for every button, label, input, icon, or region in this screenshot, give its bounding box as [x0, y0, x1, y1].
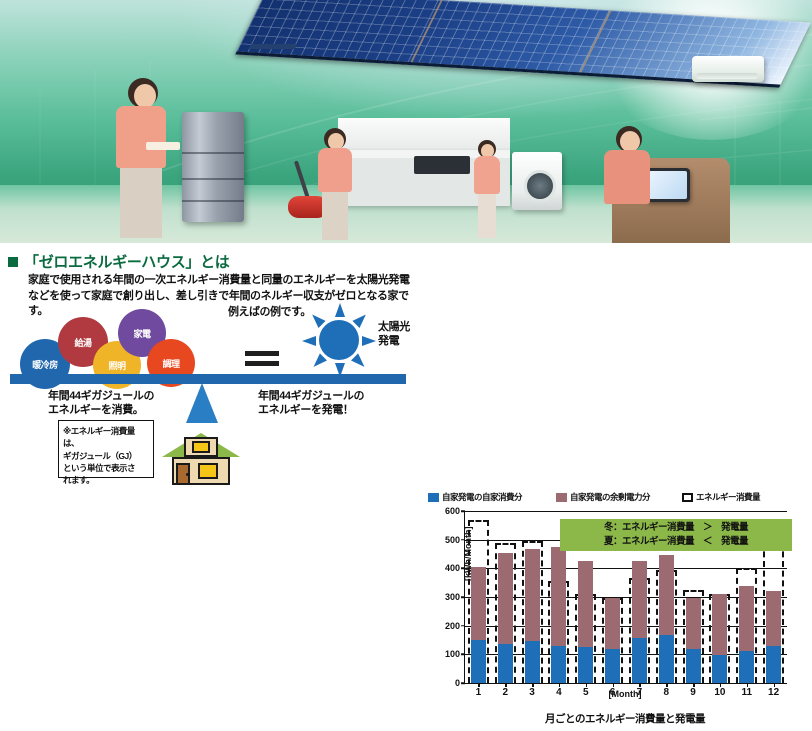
energy-use-bubbles: 暖冷房 給湯 照明 家電 調理 [20, 305, 230, 383]
refrigerator [182, 112, 244, 222]
y-tick-mark [461, 625, 465, 627]
table-row [578, 561, 593, 683]
table-row [498, 553, 513, 683]
person-with-tablet [596, 126, 666, 238]
table-row [766, 591, 781, 683]
bar-surplus [739, 586, 754, 651]
y-tick-label: 300 [445, 592, 460, 602]
chart-title: 月ごとのエネルギー消費量と発電量 [464, 711, 786, 726]
legend-item-consumption: エネルギー消費量 [682, 491, 760, 503]
y-tick-label: 200 [445, 621, 460, 631]
legend-item-surplus: 自家発電の余剰電力分 [556, 491, 650, 503]
bar-surplus [498, 553, 513, 644]
footnote-line2: ギガジュール（GJ） [63, 450, 150, 462]
bar-surplus [525, 549, 540, 642]
bubble-label: 家電 [133, 327, 150, 340]
y-tick-mark [461, 539, 465, 541]
solar-label-line1: 太陽光 [378, 321, 410, 335]
bar-self-consumption [766, 646, 781, 683]
example-text: 例えばの例です。 [228, 303, 311, 319]
y-tick-label: 600 [445, 506, 460, 516]
bar-surplus [605, 598, 620, 649]
section-heading: 「ゼロエネルギーハウス」とは [8, 251, 230, 272]
bar-surplus [551, 547, 566, 646]
solar-label: 太陽光 発電 [378, 321, 410, 349]
house-icon [162, 419, 240, 485]
chart-legend: 自家発電の自家消費分 自家発電の余剰電力分 エネルギー消費量 [424, 491, 812, 505]
y-tick-label: 400 [445, 563, 460, 573]
bar-self-consumption [498, 644, 513, 683]
left-caption-line2: エネルギーを消費。 [48, 403, 154, 417]
legend-item-self-consumption: 自家発電の自家消費分 [428, 491, 522, 503]
panasonic-brand-tag [249, 44, 297, 49]
solar-label-line2: 発電 [378, 335, 410, 349]
y-tick-label: 100 [445, 649, 460, 659]
table-row [739, 586, 754, 683]
y-tick-mark [461, 510, 465, 512]
table-row [712, 594, 727, 683]
y-tick-mark [461, 596, 465, 598]
table-row [525, 549, 540, 683]
table-row [471, 567, 486, 683]
bubble-label: 暖冷房 [32, 358, 58, 371]
cooktop [414, 156, 470, 174]
y-tick-mark [461, 654, 465, 656]
table-row [686, 598, 701, 683]
legend-label: エネルギー消費量 [696, 491, 760, 503]
bar-self-consumption [686, 649, 701, 683]
section-body-line1: 家庭で使用される年間の一次エネルギー消費量と同量のエネルギーを太陽光発電 [28, 273, 410, 289]
bar-self-consumption [659, 635, 674, 683]
table-row [551, 547, 566, 683]
chart-gridline [465, 511, 787, 512]
bar-surplus [471, 567, 486, 640]
y-tick-label: 500 [445, 535, 460, 545]
person-vacuuming [312, 128, 360, 232]
y-tick-mark [461, 568, 465, 570]
legend-swatch-dashed [682, 493, 693, 502]
table-row [659, 555, 674, 683]
right-caption-line1: 年間44ギガジュールの [258, 389, 364, 403]
bar-self-consumption [471, 640, 486, 683]
left-caption-line1: 年間44ギガジュールの [48, 389, 154, 403]
solar-sun-icon [302, 303, 376, 377]
right-caption-line2: エネルギーを発電！ [258, 403, 364, 417]
seasonal-callout: 冬：エネルギー消費量 ＞ 発電量 夏：エネルギー消費量 ＜ 発電量 [560, 519, 792, 551]
footnote-line4: れます。 [63, 474, 150, 486]
bar-surplus [712, 594, 727, 655]
bubble-label: 調理 [162, 357, 179, 370]
person-dancing [468, 140, 506, 236]
callout-line1: 冬：エネルギー消費量 ＞ 発電量 [566, 521, 786, 535]
bullet-square-icon [8, 257, 18, 267]
table-row [632, 561, 647, 683]
y-tick-label: 0 [455, 678, 460, 688]
bar-self-consumption [739, 651, 754, 683]
hero-photo-banner [0, 0, 812, 243]
right-caption: 年間44ギガジュールの エネルギーを発電！ [258, 389, 364, 418]
bar-surplus [686, 598, 701, 648]
bar-self-consumption [632, 638, 647, 683]
energy-chart: 自家発電の自家消費分 自家発電の余剰電力分 エネルギー消費量 [kWh/Mont… [418, 489, 812, 731]
footnote-line3: という単位で表示さ [63, 462, 150, 474]
footnote-line1: ※エネルギー消費量は、 [63, 425, 150, 450]
bubble-label: 給湯 [74, 336, 91, 349]
bar-surplus [659, 555, 674, 634]
content-area: 「ゼロエネルギーハウス」とは 家庭で使用される年間の一次エネルギー消費量と同量の… [0, 243, 812, 488]
bar-self-consumption [712, 655, 727, 683]
down-arrow-icon [186, 383, 218, 423]
person-with-tray [108, 78, 184, 238]
air-conditioner [692, 56, 764, 82]
left-caption: 年間44ギガジュールの エネルギーを消費。 [48, 389, 154, 418]
y-tick-mark [461, 682, 465, 684]
x-axis-label: [Month] [464, 689, 786, 699]
bar-self-consumption [578, 647, 593, 683]
callout-line2: 夏：エネルギー消費量 ＜ 発電量 [566, 535, 786, 549]
washing-machine [512, 152, 562, 210]
legend-swatch-maroon [556, 493, 567, 502]
bar-self-consumption [525, 641, 540, 683]
bar-self-consumption [551, 646, 566, 683]
bar-self-consumption [605, 649, 620, 683]
table-row [605, 598, 620, 683]
legend-swatch-blue [428, 493, 439, 502]
bubble-label: 照明 [108, 359, 125, 372]
legend-label: 自家発電の自家消費分 [442, 491, 522, 503]
bar-surplus [578, 561, 593, 646]
equals-sign-icon [245, 351, 279, 367]
bar-surplus [766, 591, 781, 646]
legend-label: 自家発電の余剰電力分 [570, 491, 650, 503]
bar-surplus [632, 561, 647, 638]
section-heading-text: 「ゼロエネルギーハウス」とは [24, 254, 230, 271]
footnote-box: ※エネルギー消費量は、 ギガジュール（GJ） という単位で表示さ れます。 [58, 420, 154, 478]
